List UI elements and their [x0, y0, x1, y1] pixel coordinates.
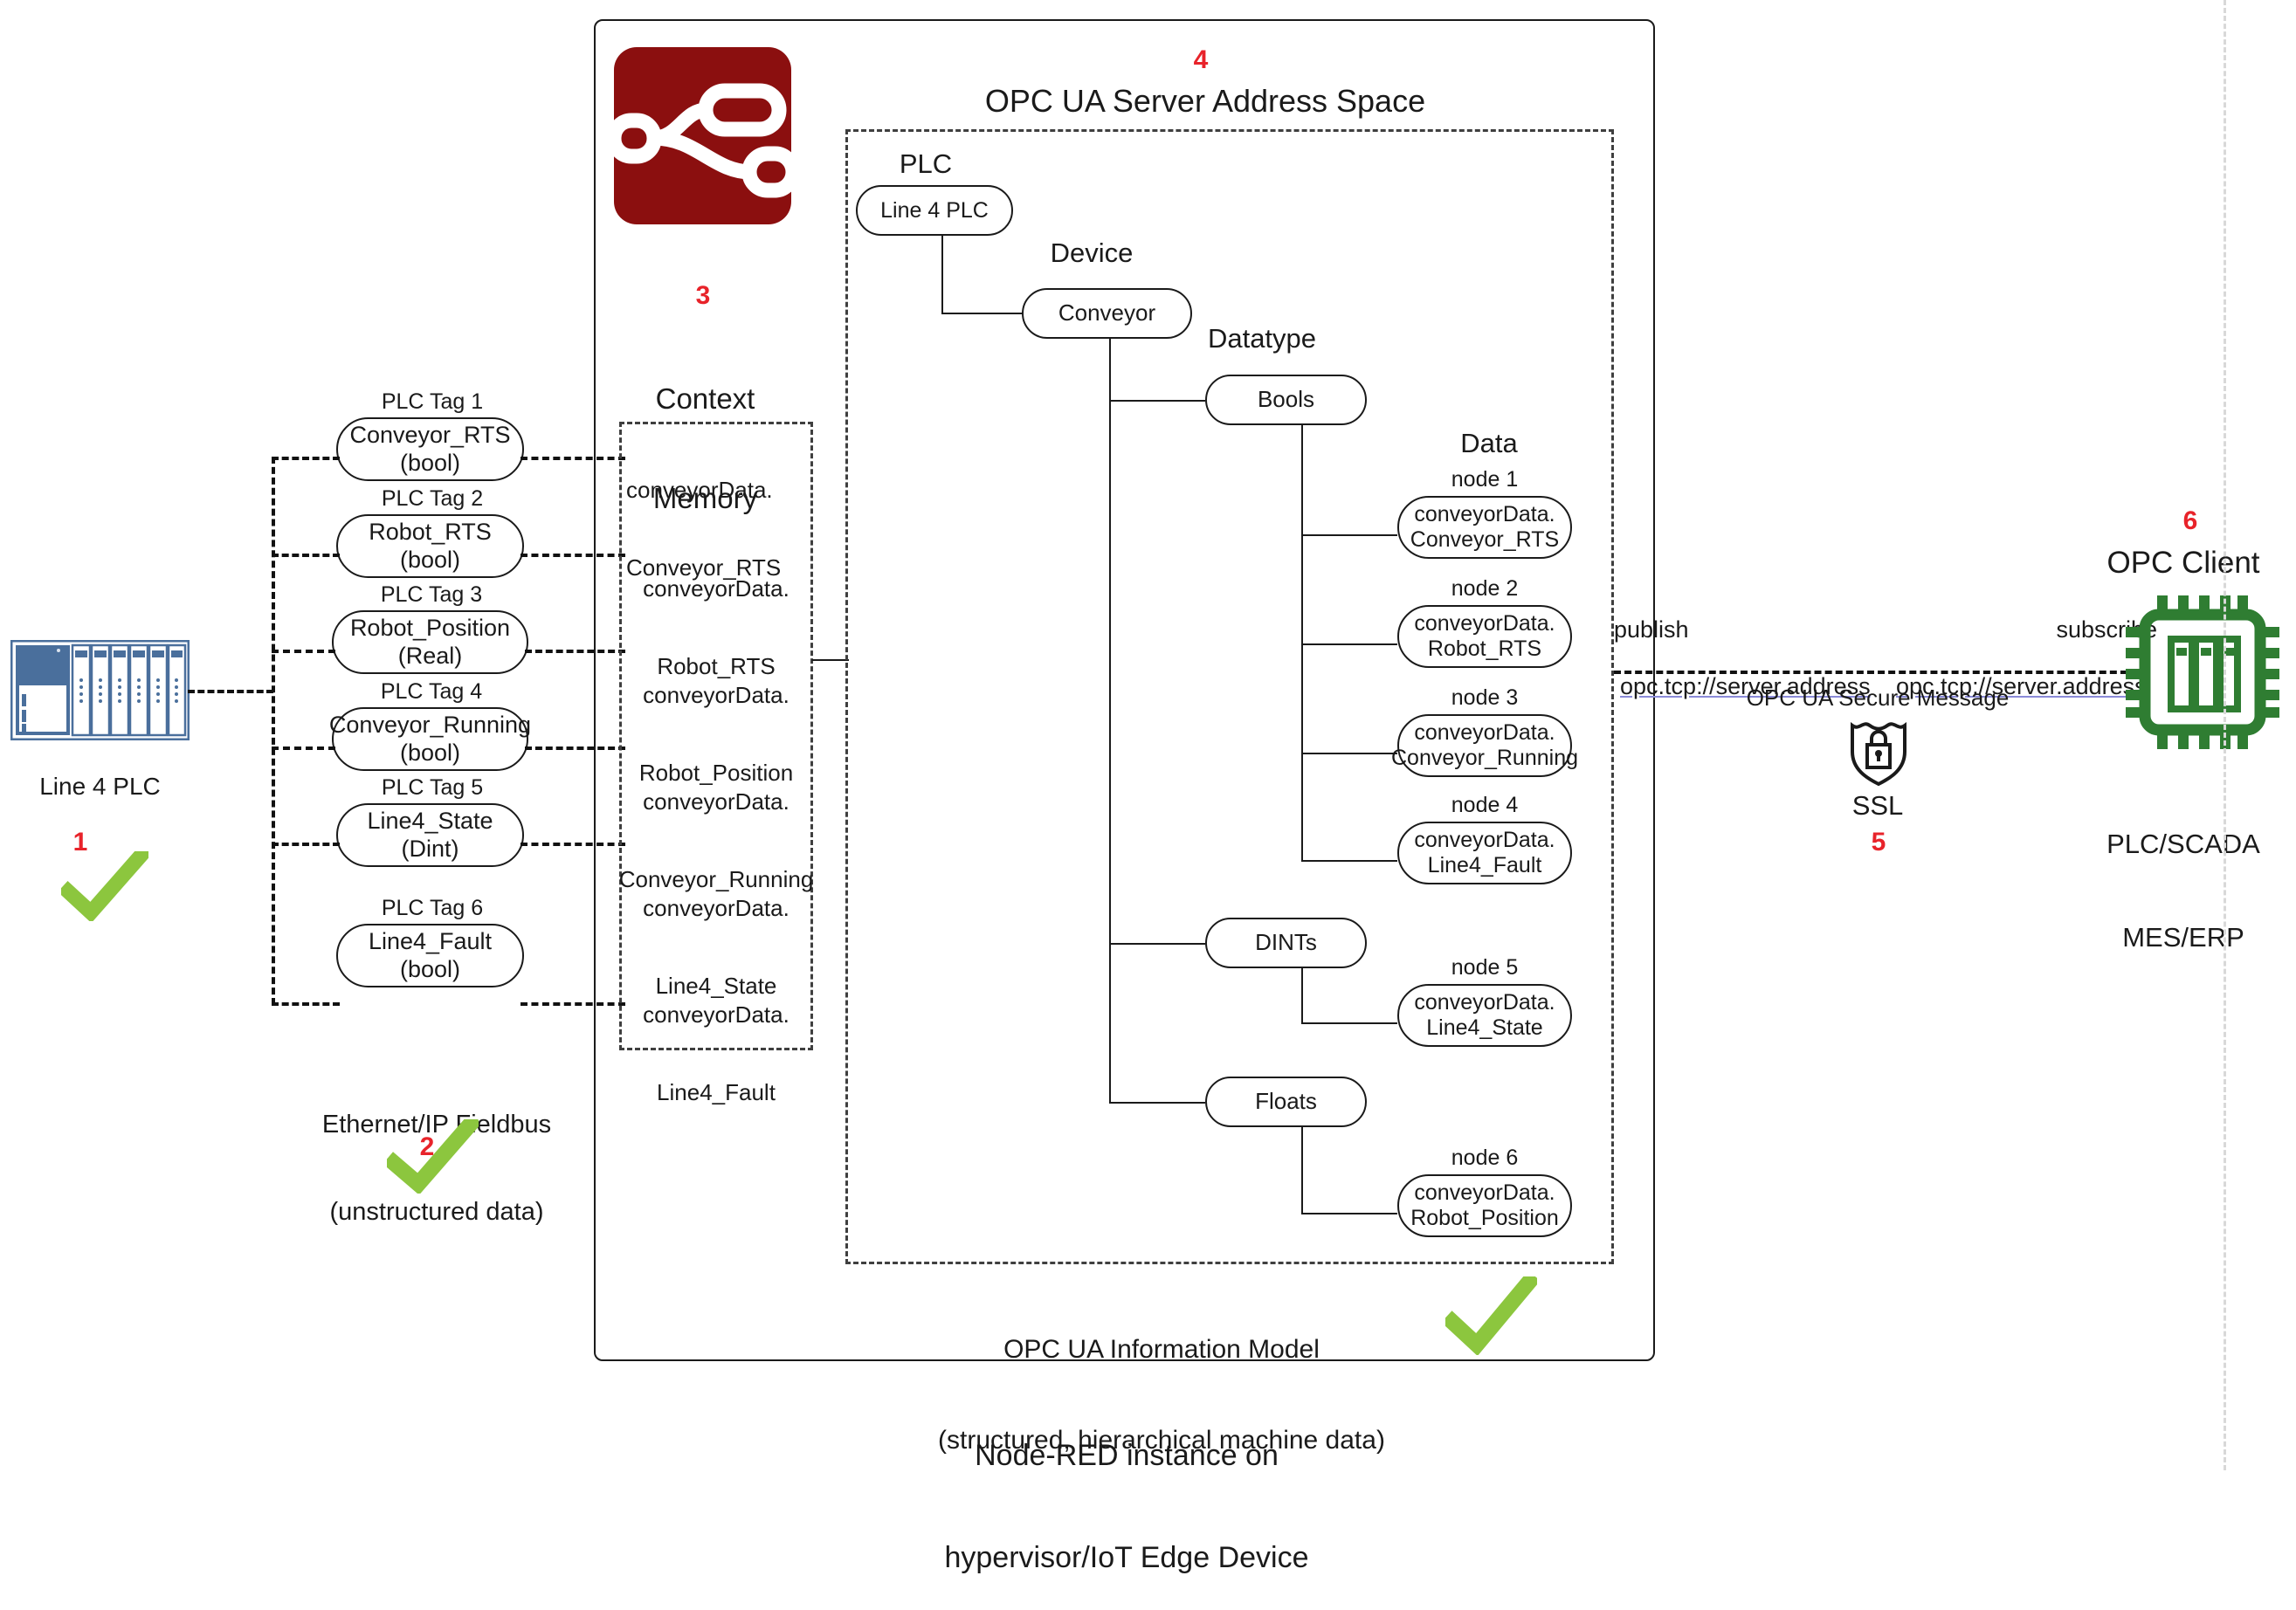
data-node-line-1: conveyorData. — [1414, 828, 1555, 853]
tag-link-left — [272, 554, 340, 557]
plc-tag-type: (bool) — [400, 450, 460, 477]
data-node-line-1: conveyorData. — [1414, 720, 1555, 746]
step-number-5: 5 — [1861, 828, 1896, 857]
data-node-line-2: Conveyor_Running — [1391, 746, 1578, 771]
address-space-column-header-plc: PLC — [873, 148, 978, 180]
address-space-datatype-node[interactable]: DINTs — [1205, 918, 1367, 968]
plc-tag-type: (bool) — [400, 740, 460, 767]
plc-tag-node[interactable]: Conveyor_RTS (bool) — [336, 417, 524, 481]
address-space-data-node[interactable]: conveyorData. Robot_RTS — [1397, 605, 1572, 668]
device-to-bools-hline — [1109, 400, 1205, 402]
data-node-line-2: Robot_Position — [1410, 1206, 1559, 1231]
datatype-label: DINTs — [1255, 930, 1317, 956]
secure-message-label: OPC UA Secure Message — [1712, 685, 2044, 712]
data-node-line-1: conveyorData. — [1414, 1180, 1555, 1206]
plc-tag-caption: PLC Tag 4 — [320, 679, 543, 705]
plc-tag-name: Robot_Position — [350, 615, 510, 642]
page-guide-line — [2224, 0, 2226, 1470]
address-space-title: OPC UA Server Address Space — [926, 83, 1485, 119]
node-red-caption: Node-RED instance on hypervisor/IoT Edge… — [878, 1371, 1376, 1610]
node-red-caption-line-2: hypervisor/IoT Edge Device — [878, 1541, 1376, 1575]
address-space-device-node[interactable]: Conveyor — [1022, 288, 1192, 339]
address-space-device-node-label: Conveyor — [1058, 300, 1155, 327]
opc-client-title: OPC Client — [2070, 546, 2296, 581]
plc-tag-node[interactable]: Line4_Fault (bool) — [336, 924, 524, 987]
address-space-data-node[interactable]: conveyorData. Conveyor_RTS — [1397, 496, 1572, 559]
checkmark-1-icon — [61, 851, 148, 921]
subscribe-label: subscribe — [1904, 616, 2157, 643]
plc-tag-type: (bool) — [400, 956, 460, 983]
data-node-line-1: conveyorData. — [1414, 502, 1555, 527]
datatype-label: Bools — [1258, 387, 1314, 413]
plc-to-device-hline — [941, 313, 1024, 314]
context-entry-line-1: conveyorData. — [619, 896, 813, 922]
plc-tag-node[interactable]: Conveyor_Running (bool) — [332, 707, 528, 771]
dints-trunk-vline — [1301, 968, 1303, 1024]
address-space-column-header-data: Data — [1415, 428, 1563, 459]
bools-to-node1-hline — [1301, 534, 1397, 536]
opc-client-caption: PLC/SCADA MES/ERP — [2070, 767, 2296, 984]
tag-link-left — [272, 457, 340, 460]
information-model-line-1: OPC UA Information Model — [873, 1335, 1450, 1366]
data-node-line-1: conveyorData. — [1414, 611, 1555, 636]
floats-trunk-vline — [1301, 1127, 1303, 1214]
address-space-plc-node[interactable]: Line 4 PLC — [856, 185, 1013, 236]
device-to-dints-hline — [1109, 943, 1205, 945]
dints-to-node5-hline — [1301, 1022, 1397, 1024]
fieldbus-trunk — [272, 457, 275, 1005]
plc-tag-caption: PLC Tag 1 — [336, 389, 528, 415]
data-node-caption: node 6 — [1397, 1146, 1572, 1171]
context-entry-line-1: conveyorData. — [619, 683, 813, 709]
data-node-line-2: Line4_State — [1426, 1015, 1542, 1041]
opc-client-caption-line-1: PLC/SCADA — [2070, 829, 2296, 860]
node-red-caption-line-1: Node-RED instance on — [878, 1439, 1376, 1473]
context-entry-line-2: Line4_Fault — [619, 1080, 813, 1106]
tag-link-left — [272, 843, 340, 846]
plc-tag-name: Line4_State — [367, 808, 493, 835]
device-to-floats-hline — [1109, 1102, 1205, 1104]
context-entry-line-1: conveyorData. — [626, 478, 813, 504]
device-trunk-vline — [1109, 339, 1111, 1103]
plc-tag-caption: PLC Tag 6 — [336, 896, 528, 921]
plc-tag-node[interactable]: Line4_State (Dint) — [336, 803, 524, 867]
bools-to-node3-hline — [1301, 753, 1397, 754]
opc-client-caption-line-2: MES/ERP — [2070, 922, 2296, 953]
plc-source-label: Line 4 PLC — [10, 773, 190, 801]
plc-tag-type: (Real) — [398, 643, 463, 670]
step-number-6: 6 — [2173, 506, 2208, 536]
plc-tag-node[interactable]: Robot_Position (Real) — [332, 610, 528, 674]
plc-tag-node[interactable]: Robot_RTS (bool) — [336, 514, 524, 578]
cpu-chip-icon — [2124, 594, 2281, 755]
plc-tag-caption: PLC Tag 3 — [332, 582, 531, 608]
plc-to-device-vline — [941, 236, 943, 314]
context-entry-line-1: conveyorData. — [619, 576, 813, 602]
plc-tag-caption: PLC Tag 2 — [336, 486, 528, 512]
address-space-data-node[interactable]: conveyorData. Conveyor_Running — [1397, 714, 1572, 777]
data-node-caption: node 5 — [1397, 955, 1572, 980]
ssl-label: SSL — [1825, 790, 1930, 822]
data-node-line-1: conveyorData. — [1414, 990, 1555, 1015]
bools-to-node2-hline — [1301, 643, 1397, 645]
plc-tag-type: (bool) — [400, 547, 460, 574]
address-space-column-header-device: Device — [1017, 237, 1166, 269]
tag-link-left — [272, 1002, 340, 1006]
data-node-caption: node 4 — [1397, 793, 1572, 818]
data-node-line-2: Line4_Fault — [1428, 853, 1542, 878]
data-node-line-2: Conveyor_RTS — [1410, 527, 1559, 553]
address-space-plc-node-label: Line 4 PLC — [880, 198, 989, 224]
address-space-column-header-datatype: Datatype — [1170, 323, 1354, 354]
publish-label: publish — [1614, 616, 1745, 643]
data-node-line-2: Robot_RTS — [1428, 636, 1541, 662]
address-space-data-node[interactable]: conveyorData. Line4_Fault — [1397, 822, 1572, 884]
plc-to-fieldbus-link — [188, 690, 273, 693]
context-entry-line-1: conveyorData. — [617, 789, 815, 815]
tag-link-left — [272, 650, 335, 653]
context-to-addressspace-link — [812, 659, 849, 661]
context-entry-line-1: conveyorData. — [619, 1002, 813, 1029]
checkmark-4-icon — [1445, 1276, 1537, 1355]
address-space-datatype-node[interactable]: Floats — [1205, 1077, 1367, 1127]
step-number-4: 4 — [1183, 45, 1218, 75]
opc-transport-line — [1614, 671, 2138, 674]
context-memory-title-line-1: Context — [611, 382, 799, 416]
plc-tag-name: Line4_Fault — [369, 928, 492, 955]
shield-lock-icon — [1847, 712, 1910, 791]
step-number-3: 3 — [681, 281, 725, 311]
data-node-caption: node 1 — [1397, 467, 1572, 492]
address-space-datatype-node[interactable]: Bools — [1205, 375, 1367, 425]
plc-tag-name: Robot_RTS — [369, 519, 492, 546]
plc-rack-icon — [10, 640, 190, 740]
plc-tag-type: (Dint) — [402, 836, 459, 863]
floats-to-node6-hline — [1301, 1213, 1397, 1214]
bools-to-node4-hline — [1301, 860, 1397, 862]
plc-tag-caption: PLC Tag 5 — [336, 775, 528, 801]
context-memory-entry: conveyorData. Line4_Fault — [619, 950, 813, 1132]
checkmark-2-icon — [387, 1119, 479, 1194]
data-node-caption: node 2 — [1397, 576, 1572, 602]
node-red-logo-icon — [609, 42, 796, 234]
datatype-label: Floats — [1255, 1089, 1317, 1115]
tag-link-left — [272, 747, 335, 750]
plc-tag-name: Conveyor_Running — [329, 712, 531, 739]
address-space-data-node[interactable]: conveyorData. Robot_Position — [1397, 1174, 1572, 1237]
plc-tag-name: Conveyor_RTS — [349, 422, 510, 449]
fieldbus-line-2: (unstructured data) — [279, 1198, 594, 1227]
data-node-caption: node 3 — [1397, 685, 1572, 711]
address-space-data-node[interactable]: conveyorData. Line4_State — [1397, 984, 1572, 1047]
